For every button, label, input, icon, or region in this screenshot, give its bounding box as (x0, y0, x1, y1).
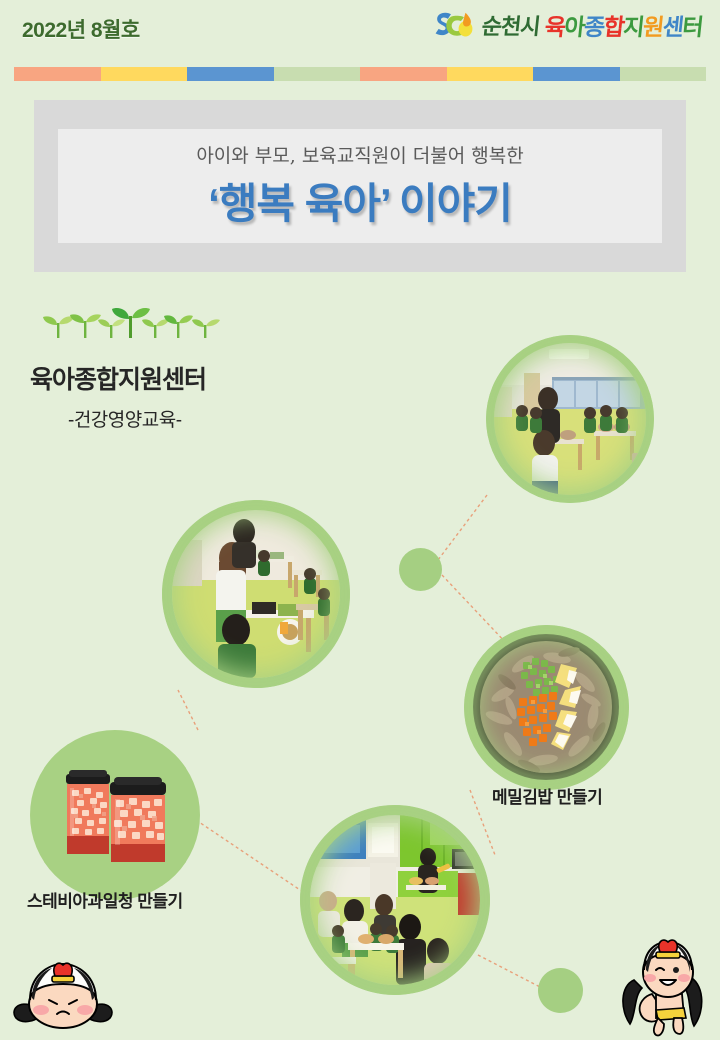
classroom-activity-top (486, 335, 654, 503)
connector-dot-upper (399, 548, 442, 591)
photo-vignette (300, 805, 490, 995)
connector-dot-lower (538, 968, 583, 1013)
classroom-activity-middle (162, 500, 350, 688)
baby-mascot-standing-icon (612, 938, 712, 1038)
newsletter-page: 2022년 8월호 순천시 육아종합지원센터 아이와 부모, 보육교직원이 더불… (0, 0, 720, 1040)
caption-buckwheat-gimbap: 메밀김밥 만들기 (492, 783, 602, 808)
caption-stevia-fruit-syrup: 스테비아과일청 만들기 (27, 887, 183, 912)
baby-mascot-lying-icon (8, 952, 118, 1032)
buckwheat-gimbap-dish (464, 625, 629, 790)
kitchen-cooking-class (300, 805, 490, 995)
photo-vignette (486, 335, 654, 503)
stevia-fruit-syrup-jars (30, 730, 200, 900)
stevia-fruit-syrup-image (44, 744, 186, 886)
photo-vignette (464, 625, 629, 790)
photo-vignette (162, 500, 350, 688)
